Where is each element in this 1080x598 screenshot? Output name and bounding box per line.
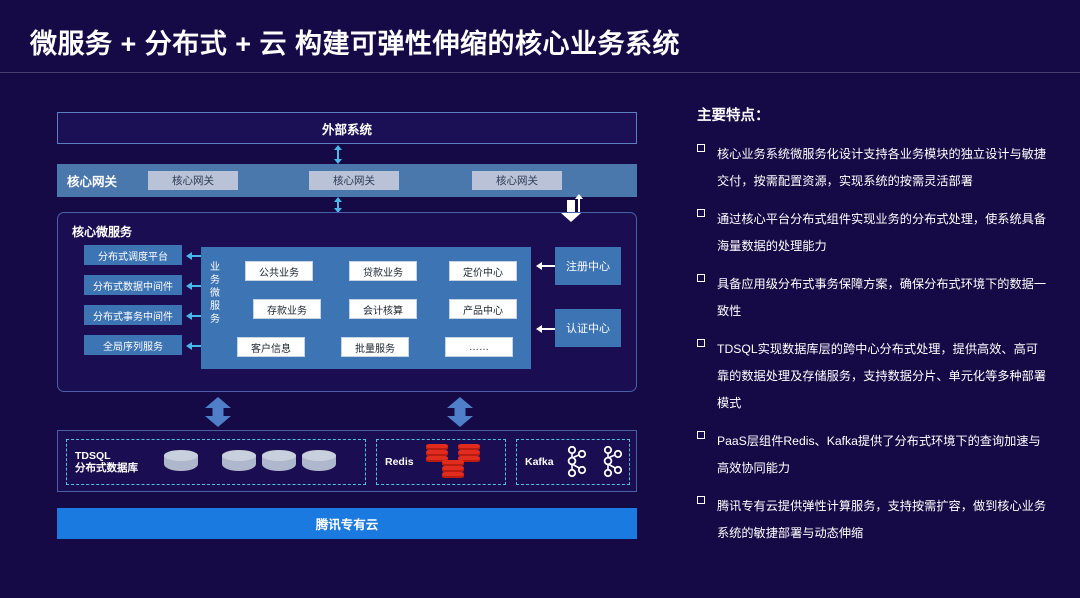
feature-text: PaaS层组件Redis、Kafka提供了分布式环境下的查询加速与高效协同能力 — [717, 434, 1041, 475]
database-cylinder-icon — [302, 450, 336, 474]
kafka-icon — [562, 445, 588, 479]
feature-text: 具备应用级分布式事务保障方案，确保分布式环境下的数据一致性 — [717, 277, 1046, 318]
kafka-icon — [598, 445, 624, 479]
square-bullet-icon — [697, 144, 705, 152]
architecture-diagram: 外部系统 核心网关 核心网关 核心网关 核心网关 核心微服务 分布式调度平台 分… — [57, 112, 637, 540]
feature-item: 腾讯专有云提供弹性计算服务，支持按需扩容，做到核心业务系统的敏捷部署与动态伸缩 — [697, 493, 1047, 547]
core-gateway-title: 核心网关 — [67, 171, 147, 190]
service-card-loan[interactable]: 贷款业务 — [349, 261, 417, 281]
arrow-external-to-gateway — [332, 145, 344, 164]
tdsql-group: TDSQL 分布式数据库 — [66, 439, 366, 485]
feature-text: 核心业务系统微服务化设计支持各业务模块的独立设计与敏捷交付，按需配置资源，实现系… — [717, 147, 1046, 188]
service-card-batch[interactable]: 批量服务 — [341, 337, 409, 357]
square-bullet-icon — [697, 496, 705, 504]
tencent-private-cloud-label: 腾讯专有云 — [316, 514, 379, 533]
auth-center-box[interactable]: 认证中心 — [555, 309, 621, 347]
service-card-deposit[interactable]: 存款业务 — [253, 299, 321, 319]
redis-label: Redis — [385, 456, 414, 468]
arrow-gateway-into-panel — [561, 200, 581, 222]
platform-button-data-mw[interactable]: 分布式数据中间件 — [84, 275, 182, 295]
service-card-product[interactable]: 产品中心 — [449, 299, 517, 319]
feature-text: 腾讯专有云提供弹性计算服务，支持按需扩容，做到核心业务系统的敏捷部署与动态伸缩 — [717, 499, 1046, 540]
feature-item: 具备应用级分布式事务保障方案，确保分布式环境下的数据一致性 — [697, 271, 1047, 325]
database-cylinder-icon — [222, 450, 256, 474]
service-card-customer[interactable]: 客户信息 — [237, 337, 305, 357]
redis-icon — [442, 460, 464, 480]
registry-center-box[interactable]: 注册中心 — [555, 247, 621, 285]
external-system-label: 外部系统 — [322, 119, 372, 138]
feature-item: TDSQL实现数据库层的跨中心分布式处理，提供高效、高可靠的数据处理及存储服务，… — [697, 336, 1047, 417]
tdsql-label: TDSQL 分布式数据库 — [75, 450, 138, 474]
core-microservice-title: 核心微服务 — [72, 223, 132, 240]
service-card-accounting[interactable]: 会计核算 — [349, 299, 417, 319]
platform-button-global-seq[interactable]: 全局序列服务 — [84, 335, 182, 355]
business-microservice-vertical-label: 业务微服务 — [207, 261, 223, 326]
square-bullet-icon — [697, 274, 705, 282]
database-cylinder-icon — [262, 450, 296, 474]
square-bullet-icon — [697, 431, 705, 439]
page-title: 微服务 + 分布式 + 云 构建可弹性伸缩的核心业务系统 — [30, 22, 680, 61]
service-card-pricing[interactable]: 定价中心 — [449, 261, 517, 281]
feature-text: 通过核心平台分布式组件实现业务的分布式处理，使系统具备海量数据的处理能力 — [717, 212, 1046, 253]
slide-root: 微服务 + 分布式 + 云 构建可弹性伸缩的核心业务系统 外部系统 核心网关 核… — [0, 0, 1080, 598]
kafka-group: Kafka — [516, 439, 630, 485]
gateway-chip-2: 核心网关 — [309, 171, 399, 190]
features-title: 主要特点： — [697, 104, 1047, 125]
gateway-chip-3: 核心网关 — [472, 171, 562, 190]
square-bullet-icon — [697, 209, 705, 217]
service-card-public[interactable]: 公共业务 — [245, 261, 313, 281]
arrow-microservice-to-tdsql — [205, 397, 231, 427]
service-card-more[interactable]: …… — [445, 337, 513, 357]
feature-item: 核心业务系统微服务化设计支持各业务模块的独立设计与敏捷交付，按需配置资源，实现系… — [697, 141, 1047, 195]
redis-group: Redis — [376, 439, 506, 485]
external-system-box: 外部系统 — [57, 112, 637, 144]
square-bullet-icon — [697, 339, 705, 347]
data-layer-panel: TDSQL 分布式数据库 Redis Kafka — [57, 430, 637, 492]
arrow-microservice-to-cache — [447, 397, 473, 427]
core-gateway-bar: 核心网关 核心网关 核心网关 核心网关 — [57, 164, 637, 197]
feature-item: PaaS层组件Redis、Kafka提供了分布式环境下的查询加速与高效协同能力 — [697, 428, 1047, 482]
business-microservice-block: 业务微服务 公共业务 贷款业务 定价中心 存款业务 会计核算 产品中心 客户信息… — [201, 247, 531, 369]
feature-item: 通过核心平台分布式组件实现业务的分布式处理，使系统具备海量数据的处理能力 — [697, 206, 1047, 260]
title-divider — [0, 72, 1080, 73]
tencent-private-cloud-bar: 腾讯专有云 — [57, 508, 637, 539]
platform-button-scheduler[interactable]: 分布式调度平台 — [84, 245, 182, 265]
database-cylinder-icon — [164, 450, 198, 474]
core-microservice-panel: 核心微服务 分布式调度平台 分布式数据中间件 分布式事务中间件 全局序列服务 业… — [57, 212, 637, 392]
features-panel: 主要特点： 核心业务系统微服务化设计支持各业务模块的独立设计与敏捷交付，按需配置… — [697, 104, 1047, 558]
kafka-label: Kafka — [525, 456, 554, 468]
platform-button-txn-mw[interactable]: 分布式事务中间件 — [84, 305, 182, 325]
gateway-chip-1: 核心网关 — [148, 171, 238, 190]
feature-text: TDSQL实现数据库层的跨中心分布式处理，提供高效、高可靠的数据处理及存储服务，… — [717, 342, 1046, 410]
arrow-gateway-to-microservice — [332, 197, 344, 213]
